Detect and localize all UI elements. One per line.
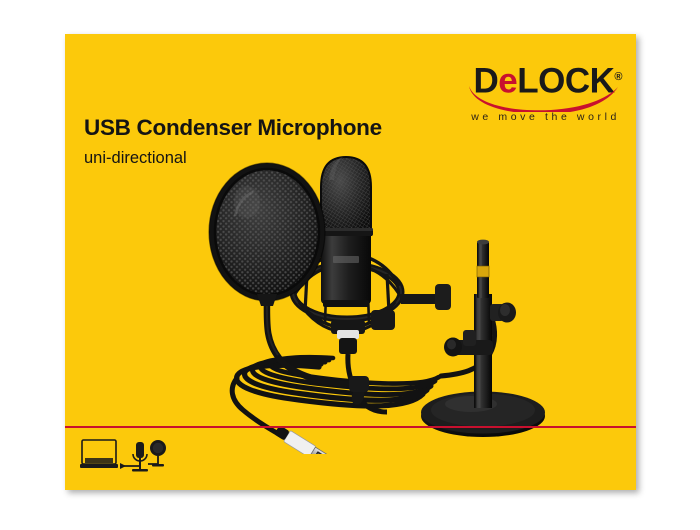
product-photo xyxy=(195,144,615,454)
product-package-panel: DeLOCK® we move the world USB Condenser … xyxy=(65,34,636,490)
delock-logo: DeLOCK® we move the world xyxy=(422,58,622,128)
product-subtitle: uni-directional xyxy=(84,149,187,168)
usb-connector xyxy=(273,424,334,454)
product-title: USB Condenser Microphone xyxy=(84,115,382,141)
stand-knob-upper xyxy=(490,303,516,323)
desk-stand xyxy=(421,240,545,437)
connection-diagram-icon xyxy=(80,436,185,482)
brand-tagline: we move the world xyxy=(471,111,620,123)
red-divider-line xyxy=(65,426,636,428)
brand-swoosh-icon xyxy=(465,84,620,112)
laptop-icon xyxy=(80,440,118,468)
shock-mount-base xyxy=(331,320,365,354)
shock-mount-arm xyxy=(371,284,451,330)
microphone xyxy=(319,154,375,307)
registered-trademark-icon: ® xyxy=(614,71,622,83)
